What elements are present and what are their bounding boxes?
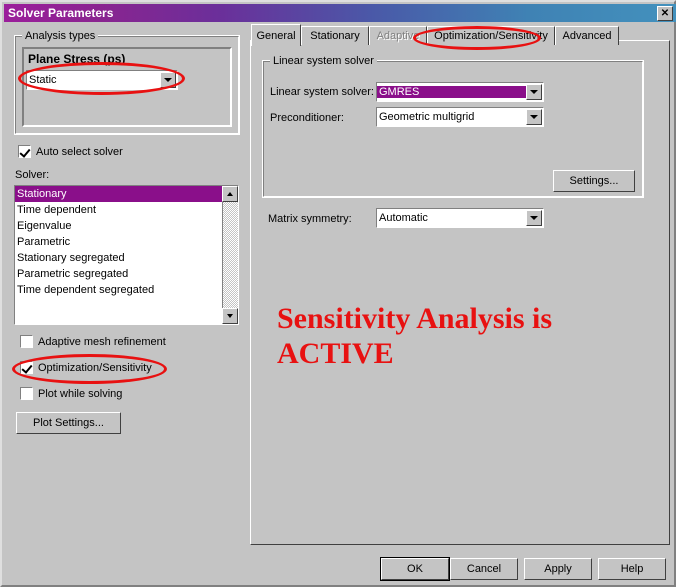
solver-parameters-dialog: Solver Parameters ✕ Analysis types Plane… [0, 0, 676, 587]
plot-settings-button[interactable]: Plot Settings... [16, 412, 121, 434]
checkbox-box[interactable] [20, 361, 33, 374]
sensitivity-annotation-line2: ACTIVE [277, 337, 637, 372]
cancel-button[interactable]: Cancel [450, 558, 518, 580]
close-icon[interactable]: ✕ [657, 6, 673, 21]
plot-while-solving-label: Plot while solving [38, 388, 122, 400]
adaptive-mesh-refinement-checkbox[interactable]: Adaptive mesh refinement [20, 335, 166, 348]
ok-button[interactable]: OK [381, 558, 449, 580]
tab-adaptive: Adaptive [369, 26, 427, 45]
linear-system-solver-group-title: Linear system solver [270, 55, 377, 67]
solver-list-item[interactable]: Eigenvalue [15, 218, 238, 234]
checkbox-box[interactable] [20, 387, 33, 400]
linear-system-solver-value: GMRES [377, 86, 526, 98]
tab-optimization-sensitivity[interactable]: Optimization/Sensitivity [427, 26, 555, 45]
preconditioner-label: Preconditioner: [270, 112, 344, 124]
solver-list-item[interactable]: Time dependent [15, 202, 238, 218]
window-title: Solver Parameters [8, 6, 113, 20]
tab-advanced[interactable]: Advanced [555, 26, 619, 45]
auto-select-solver-checkbox[interactable]: Auto select solver [18, 145, 123, 158]
analysis-type-combo[interactable]: Static [26, 70, 178, 90]
application-mode-label: Plane Stress (ps) [28, 52, 125, 66]
sensitivity-annotation-text: Sensitivity Analysis is ACTIVE [277, 302, 637, 371]
optimization-sensitivity-label: Optimization/Sensitivity [38, 362, 152, 374]
plot-while-solving-checkbox[interactable]: Plot while solving [20, 387, 122, 400]
apply-button[interactable]: Apply [524, 558, 592, 580]
checkbox-box[interactable] [20, 335, 33, 348]
checkbox-box[interactable] [18, 145, 31, 158]
title-bar[interactable]: Solver Parameters ✕ [4, 4, 676, 22]
tab-stationary[interactable]: Stationary [301, 26, 369, 45]
scroll-down-icon[interactable] [222, 308, 238, 324]
chevron-down-icon[interactable] [526, 210, 542, 226]
chevron-down-icon[interactable] [526, 109, 542, 125]
analysis-type-value: Static [27, 74, 160, 86]
chevron-down-icon[interactable] [526, 84, 542, 100]
solver-list-item[interactable]: Stationary [15, 186, 238, 202]
solver-label: Solver: [15, 169, 49, 181]
tab-general[interactable]: General [251, 24, 301, 46]
sensitivity-annotation-line1: Sensitivity Analysis is [277, 302, 637, 337]
solver-list-item[interactable]: Parametric segregated [15, 266, 238, 282]
settings-button[interactable]: Settings... [553, 170, 635, 192]
adaptive-mesh-refinement-label: Adaptive mesh refinement [38, 336, 166, 348]
help-button[interactable]: Help [598, 558, 666, 580]
optimization-sensitivity-checkbox[interactable]: Optimization/Sensitivity [20, 361, 152, 374]
solver-list-scrollbar[interactable] [222, 186, 238, 324]
solver-list-box[interactable]: StationaryTime dependentEigenvalueParame… [14, 185, 239, 325]
solver-list-item[interactable]: Stationary segregated [15, 250, 238, 266]
preconditioner-combo[interactable]: Geometric multigrid [376, 107, 544, 127]
matrix-symmetry-label: Matrix symmetry: [268, 213, 352, 225]
linear-system-solver-label: Linear system solver: [270, 86, 374, 98]
matrix-symmetry-value: Automatic [377, 212, 526, 224]
analysis-types-group-title: Analysis types [22, 30, 98, 42]
chevron-down-icon[interactable] [160, 72, 176, 88]
solver-list-item[interactable]: Parametric [15, 234, 238, 250]
solver-list-item[interactable]: Time dependent segregated [15, 282, 238, 298]
preconditioner-value: Geometric multigrid [377, 111, 526, 123]
scroll-up-icon[interactable] [222, 186, 238, 202]
matrix-symmetry-combo[interactable]: Automatic [376, 208, 544, 228]
auto-select-solver-label: Auto select solver [36, 146, 123, 158]
linear-system-solver-combo[interactable]: GMRES [376, 82, 544, 102]
